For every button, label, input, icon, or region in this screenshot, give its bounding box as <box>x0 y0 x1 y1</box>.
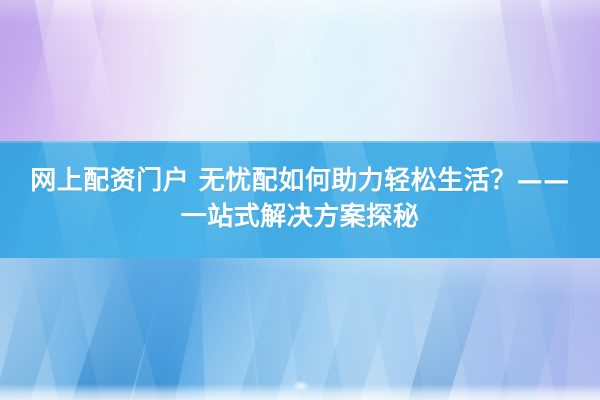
article-banner: 网上配资门户 无忧配如何助力轻松生活？——一站式解决方案探秘 <box>0 0 600 400</box>
headline-container: 网上配资门户 无忧配如何助力轻松生活？——一站式解决方案探秘 <box>0 141 600 258</box>
bottom-sparkle-highlight <box>292 380 310 392</box>
headline-title: 网上配资门户 无忧配如何助力轻松生活？——一站式解决方案探秘 <box>22 164 578 236</box>
